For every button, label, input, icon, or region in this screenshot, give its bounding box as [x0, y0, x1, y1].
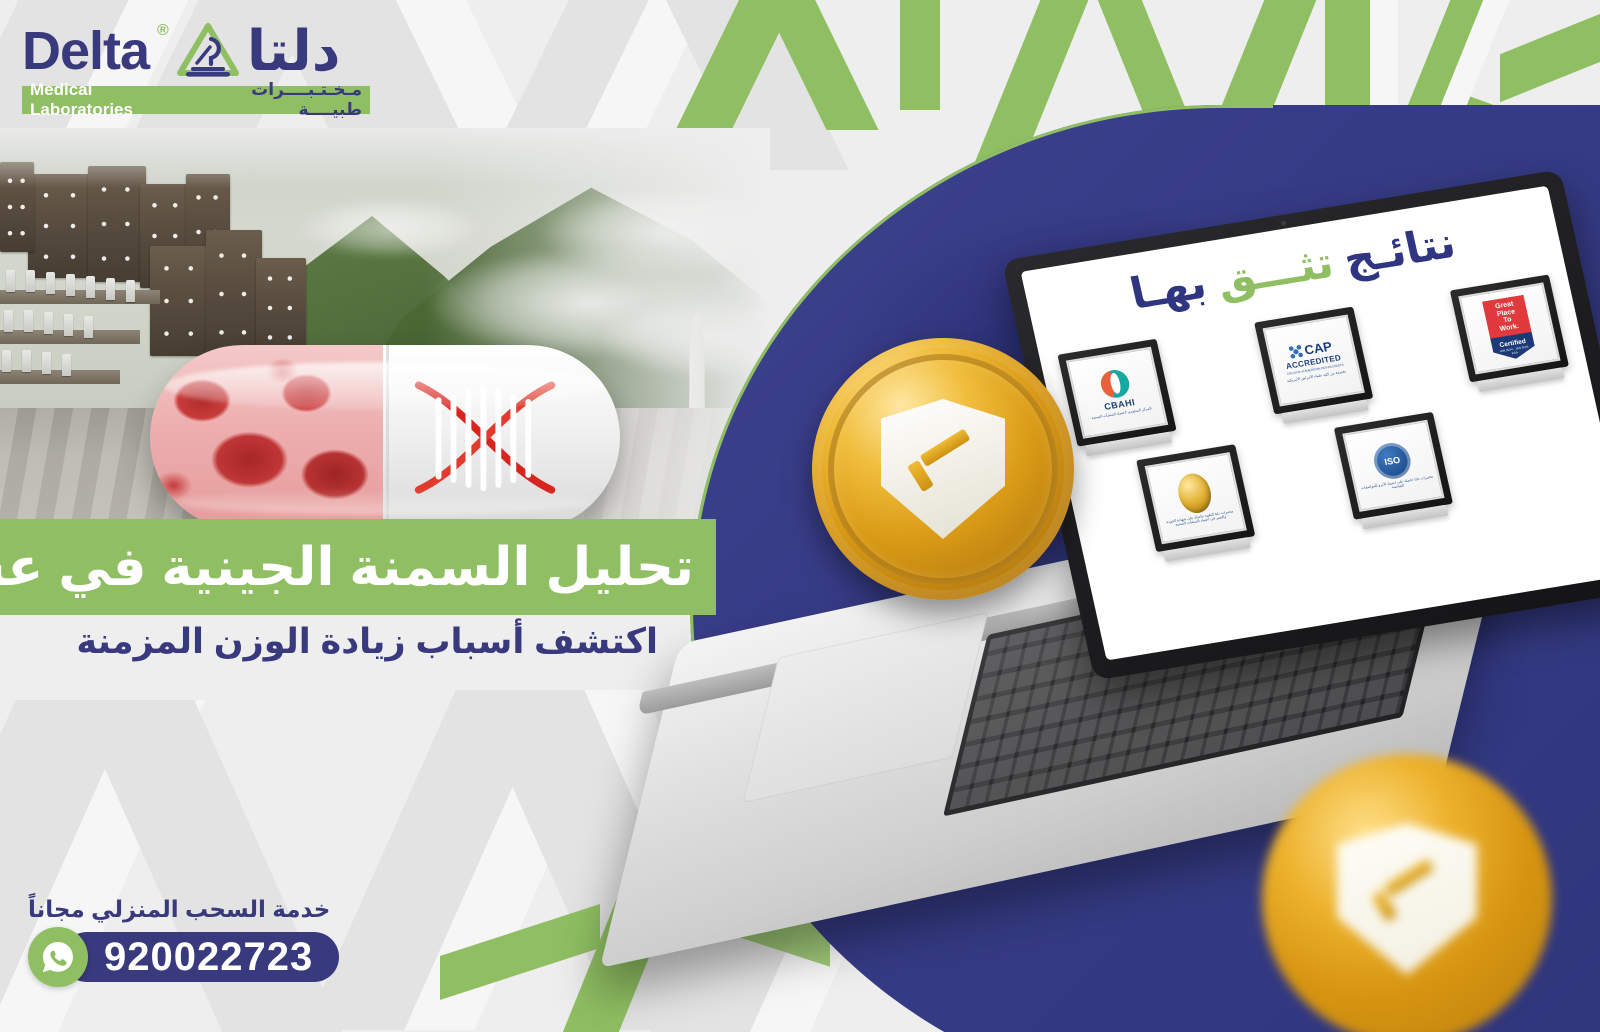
headline-band: تحليل السمنة الجينية في عسير: [0, 519, 716, 615]
page-title: تحليل السمنة الجينية في عسير: [0, 541, 694, 594]
brand-tagline-en: Medical Laboratories: [30, 80, 192, 120]
webcam-icon: [1280, 220, 1286, 226]
certificate-cbahi[interactable]: CBAHI المركز السعودي لاعتماد المنشآت الص…: [1057, 339, 1179, 458]
brand-tagline-bar: Medical Laboratories مـخـتـبــــرات طبيـ…: [22, 86, 370, 114]
screen-headline-part3: بهـا: [1126, 258, 1223, 319]
iso-seal-icon: ISO: [1371, 440, 1414, 481]
phone-number: 920022723: [104, 937, 313, 977]
gold-medal-icon: [1174, 471, 1214, 515]
great-place-to-work-icon: Great Place To Work. Certified JAN 2024 …: [1482, 295, 1537, 362]
contact-block: خدمة السحب المنزلي مجاناً 920022723: [28, 896, 344, 987]
iso-label: ISO: [1383, 454, 1401, 466]
cbahi-logo-icon: [1098, 368, 1132, 400]
phone-pill[interactable]: 920022723: [62, 932, 339, 982]
dna-capsule-graphic: [150, 345, 620, 530]
shield-check-icon: [881, 399, 1005, 539]
gptw-line-4: Work.: [1499, 323, 1520, 334]
quality-shield-badge: [812, 338, 1074, 600]
certificate-cap[interactable]: CAP ACCREDITED COLLEGE of AMERICAN PATHO…: [1254, 307, 1376, 426]
brand-logo[interactable]: Delta ® دلتا Medical Laboratories مـخـتـ…: [22, 18, 372, 114]
cap-accredited-icon: [1288, 344, 1304, 359]
checkmark-icon: [912, 449, 974, 489]
laptop-lid: نتائـج تثـــق بهـا CBAHI المركز السعودي …: [1002, 169, 1600, 680]
gptw-country: KSA: [1511, 350, 1518, 355]
whatsapp-icon[interactable]: [28, 927, 88, 987]
brand-tagline-ar: مـخـتـبــــرات طبيــــة: [192, 80, 362, 120]
brand-name-ar: دلتا: [247, 23, 341, 79]
registered-trademark-icon: ®: [157, 22, 169, 40]
certificate-iso[interactable]: ISO مختبرات دلتا حاصلة على اعتماد الأيزو…: [1334, 412, 1456, 531]
shield-check-icon-blurred: [1337, 823, 1477, 975]
certificate-great-place-to-work[interactable]: Great Place To Work. Certified JAN 2024 …: [1450, 274, 1572, 393]
checkmark-icon-blurred: [1376, 879, 1438, 919]
microscope-triangle-icon: [177, 23, 239, 79]
page-subtitle: اكتشف أسباب زيادة الوزن المزمنة: [0, 620, 680, 664]
screen-headline-part1: نتائـج: [1327, 219, 1460, 286]
poster-canvas: نتائـج تثـــق بهـا CBAHI المركز السعودي …: [0, 0, 1600, 1032]
screen-headline-part2: تثـــق: [1212, 239, 1338, 305]
laptop-screen: نتائـج تثـــق بهـا CBAHI المركز السعودي …: [1021, 186, 1600, 661]
home-service-label: خدمة السحب المنزلي مجاناً: [28, 896, 344, 923]
quality-shield-badge-blurred: [1262, 754, 1552, 1032]
certificate-gold-medal[interactable]: مختبرات دلتا الطبية حاصلة على شهادة الجو…: [1136, 444, 1258, 563]
brand-name-en: Delta: [22, 24, 149, 78]
